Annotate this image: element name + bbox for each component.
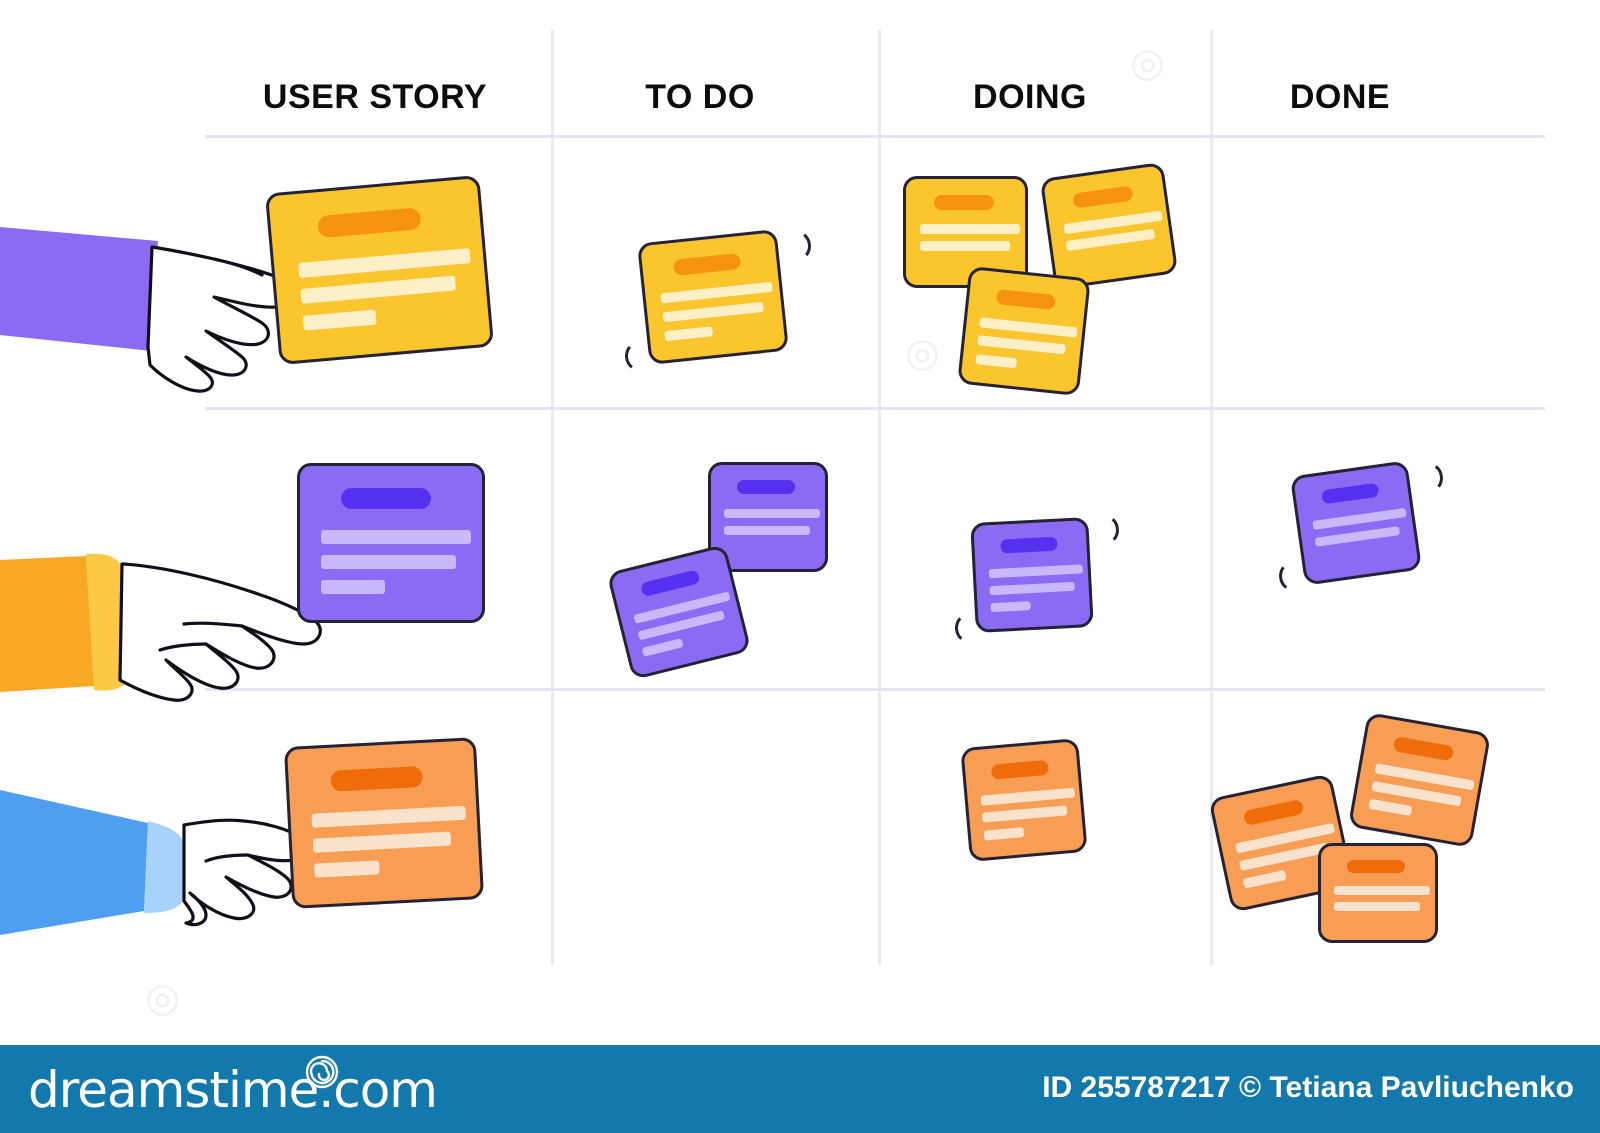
card-title-pill <box>341 488 431 509</box>
card-title-pill <box>996 289 1056 310</box>
card-text-line <box>980 788 1075 806</box>
card-title-pill <box>1321 483 1379 505</box>
column-divider-2 <box>1210 30 1213 965</box>
card-text-line <box>990 582 1075 595</box>
card-title-pill <box>640 569 701 597</box>
card-text-line <box>298 248 471 278</box>
card-text-line <box>321 555 456 569</box>
sticky-card-us-orange[interactable] <box>284 737 484 909</box>
dreamstime-logo-text: dreamstime.com <box>28 1061 437 1119</box>
card-text-line <box>311 806 466 828</box>
card-title-pill <box>317 207 422 238</box>
sticky-card-todo-yellow[interactable] <box>637 229 789 365</box>
column-header-done: DONE <box>1160 78 1520 117</box>
card-text-line <box>979 317 1078 337</box>
card-title-pill <box>673 253 741 276</box>
card-text-line <box>660 282 772 304</box>
card-title-pill <box>1243 799 1305 826</box>
card-text-line <box>990 601 1030 612</box>
sticky-card-todo-purple-2[interactable] <box>607 544 752 680</box>
sticky-card-us-yellow[interactable] <box>265 175 494 365</box>
card-text-line <box>314 860 380 877</box>
sticky-card-doing-orange[interactable] <box>960 738 1087 862</box>
card-text-line <box>1334 902 1420 911</box>
card-title-pill <box>934 195 994 210</box>
card-text-line <box>313 832 452 853</box>
column-divider-0 <box>551 30 554 965</box>
card-text-line <box>321 580 385 594</box>
card-text-line <box>984 827 1025 840</box>
card-text-line <box>1243 870 1287 889</box>
card-text-line <box>321 530 471 544</box>
card-text-line <box>642 638 684 657</box>
kanban-board-illustration: USER STORYTO DODOINGDONE ◎ <box>0 0 1600 1133</box>
card-text-line <box>724 509 820 518</box>
card-text-line <box>662 302 763 323</box>
hand-orange-sleeve <box>0 520 330 710</box>
card-text-line <box>664 326 713 341</box>
sticky-card-done-purple[interactable] <box>1290 460 1422 585</box>
card-text-line <box>920 241 1010 251</box>
card-title-pill <box>1347 860 1405 873</box>
column-header-doing: DOING <box>850 78 1210 117</box>
motion-arc-icon <box>1086 513 1120 547</box>
column-header-to-do: TO DO <box>520 78 880 117</box>
card-text-line <box>982 805 1068 822</box>
column-divider-1 <box>878 30 881 965</box>
motion-arc-icon <box>954 611 988 645</box>
hand-blue-sleeve <box>0 775 330 955</box>
watermark-mark: ◎ <box>905 330 940 376</box>
sticky-card-us-purple[interactable] <box>297 463 485 623</box>
card-text-line <box>989 564 1083 578</box>
sticky-card-doing-purple[interactable] <box>970 517 1094 633</box>
card-text-line <box>1315 526 1400 547</box>
card-text-line <box>1368 799 1412 816</box>
sticky-card-done-orange-2[interactable] <box>1348 712 1491 848</box>
sticky-card-done-orange-3[interactable] <box>1318 843 1438 943</box>
watermark-mark: ◎ <box>145 975 180 1021</box>
sticky-card-doing-yellow-2[interactable] <box>1040 162 1178 290</box>
card-title-pill <box>991 760 1049 780</box>
motion-arc-icon <box>777 228 812 263</box>
card-text-line <box>1334 886 1430 895</box>
card-title-pill <box>1000 537 1058 554</box>
row-divider-1 <box>205 407 1545 410</box>
card-title-pill <box>737 480 795 494</box>
spiral-icon <box>305 1055 339 1089</box>
motion-arc-icon <box>1409 460 1445 496</box>
card-text-line <box>920 224 1020 234</box>
row-divider-0 <box>205 135 1545 138</box>
card-text-line <box>303 310 377 331</box>
card-title-pill <box>1393 736 1455 761</box>
sticky-card-doing-yellow-3[interactable] <box>957 266 1091 396</box>
card-title-pill <box>330 766 423 792</box>
card-title-pill <box>1072 185 1134 208</box>
card-text-line <box>975 354 1017 368</box>
dreamstime-footer: dreamstime.com ID 255787217 © Tetiana Pa… <box>0 1045 1600 1133</box>
card-text-line <box>300 275 456 303</box>
card-text-line <box>977 335 1066 354</box>
card-text-line <box>724 526 810 535</box>
row-divider-2 <box>205 688 1545 691</box>
image-credit: ID 255787217 © Tetiana Pavliuchenko <box>1042 1071 1574 1105</box>
column-header-user-story: USER STORY <box>195 78 555 117</box>
